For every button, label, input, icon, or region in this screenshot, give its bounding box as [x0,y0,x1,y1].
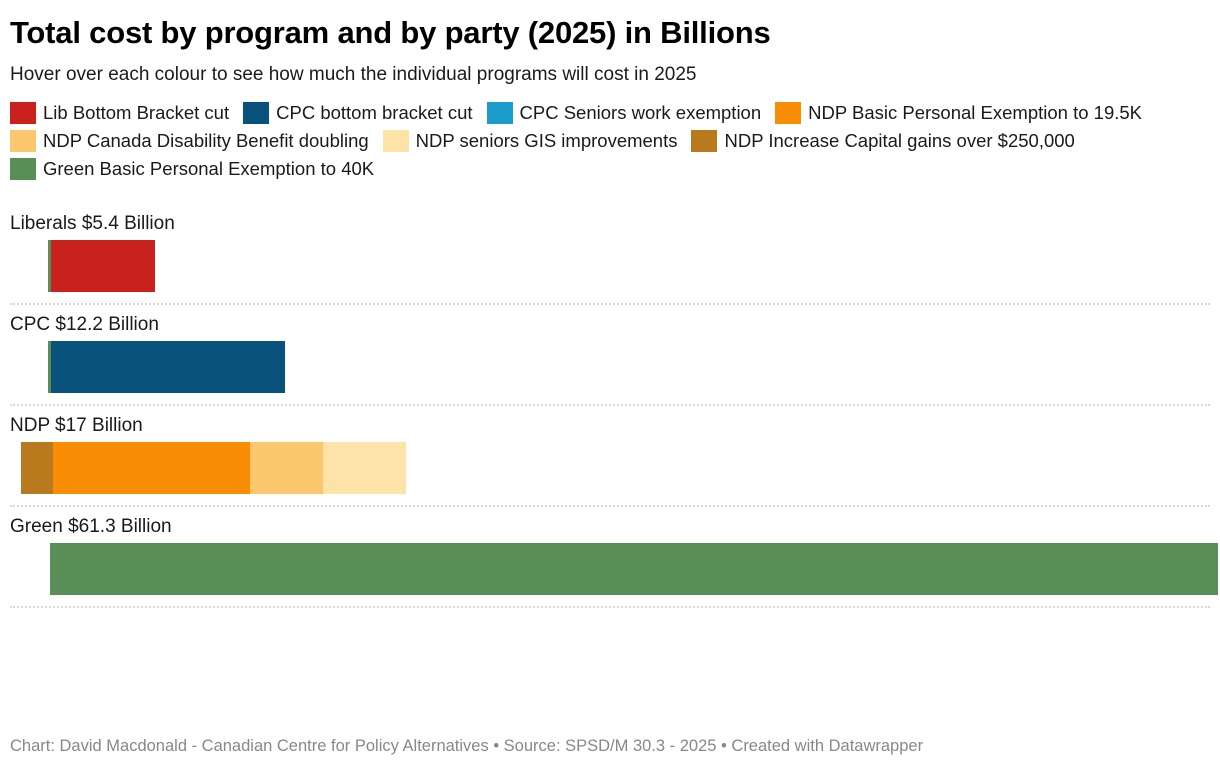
legend-swatch-icon [691,130,717,152]
bar-track [10,240,1210,292]
legend-item[interactable]: NDP Increase Capital gains over $250,000 [691,130,1074,152]
bar-segment[interactable] [21,442,53,494]
legend-item-label: NDP Canada Disability Benefit doubling [43,130,369,152]
bar-group-label: NDP $17 Billion [10,406,1210,442]
bar-group-label: Green $61.3 Billion [10,507,1210,543]
legend-swatch-icon [10,102,36,124]
legend-swatch-icon [383,130,409,152]
chart-legend: Lib Bottom Bracket cutCPC bottom bracket… [10,102,1210,186]
bar-segment[interactable] [51,341,285,393]
baseline-marker [48,341,51,393]
page-title: Total cost by program and by party (2025… [10,0,1210,51]
legend-item-label: Lib Bottom Bracket cut [43,102,229,124]
legend-item-label: NDP seniors GIS improvements [416,130,678,152]
legend-item-label: NDP Increase Capital gains over $250,000 [724,130,1074,152]
legend-item-label: CPC Seniors work exemption [520,102,762,124]
bar-track [10,442,1210,494]
chart-subtitle: Hover over each colour to see how much t… [10,51,1210,87]
legend-swatch-icon [243,102,269,124]
bar-segment[interactable] [51,240,155,292]
baseline-marker [48,240,51,292]
bar-track [10,341,1210,393]
row-separator [10,606,1210,608]
chart-container: Total cost by program and by party (2025… [0,0,1220,768]
bar-group: Green $61.3 Billion [10,507,1210,608]
bar-group-label: CPC $12.2 Billion [10,305,1210,341]
bar-group-label: Liberals $5.4 Billion [10,204,1210,240]
bar-track [10,543,1210,595]
legend-item[interactable]: CPC bottom bracket cut [243,102,472,124]
legend-item-label: CPC bottom bracket cut [276,102,472,124]
bar-segment[interactable] [250,442,323,494]
legend-swatch-icon [775,102,801,124]
legend-item[interactable]: CPC Seniors work exemption [487,102,762,124]
bar-segment[interactable] [53,442,250,494]
legend-swatch-icon [10,158,36,180]
legend-item[interactable]: NDP Basic Personal Exemption to 19.5K [775,102,1142,124]
bar-group: CPC $12.2 Billion [10,305,1210,406]
legend-item-label: NDP Basic Personal Exemption to 19.5K [808,102,1142,124]
legend-item-label: Green Basic Personal Exemption to 40K [43,158,374,180]
bars-area: Liberals $5.4 BillionCPC $12.2 BillionND… [10,204,1210,608]
legend-swatch-icon [487,102,513,124]
legend-item[interactable]: NDP seniors GIS improvements [383,130,678,152]
legend-item[interactable]: Green Basic Personal Exemption to 40K [10,158,374,180]
legend-item[interactable]: NDP Canada Disability Benefit doubling [10,130,369,152]
bar-group: NDP $17 Billion [10,406,1210,507]
chart-credit: Chart: David Macdonald - Canadian Centre… [10,736,923,756]
legend-item[interactable]: Lib Bottom Bracket cut [10,102,229,124]
bar-group: Liberals $5.4 Billion [10,204,1210,305]
legend-swatch-icon [10,130,36,152]
bar-segment[interactable] [50,543,1218,595]
bar-segment[interactable] [323,442,406,494]
